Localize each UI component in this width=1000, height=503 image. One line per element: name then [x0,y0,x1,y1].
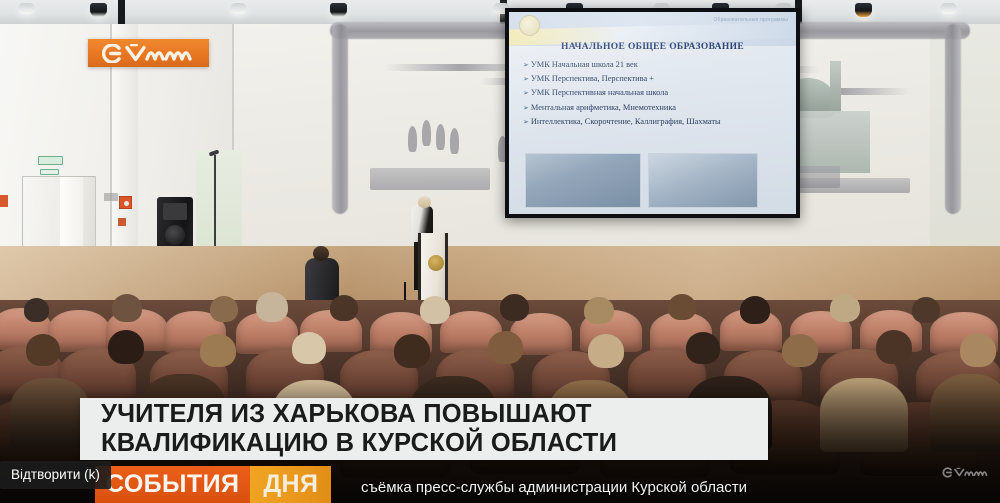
seim-logo-icon [97,44,201,63]
audience-head [830,294,860,322]
slide-bullet: УМК Начальная школа 21 век [523,58,786,72]
audience-head [112,294,142,322]
audience-head [330,295,358,321]
slide-bullet: Ментальная арифметика, Мнемотехника [523,101,786,115]
presenter-head [418,196,431,208]
audience-head [24,298,49,322]
podium-emblem-icon [428,255,444,271]
video-frame: Образовательные программы НАЧАЛЬНОЕ ОБЩЕ… [0,0,1000,503]
wall-sign [0,195,8,207]
slide-surface: Образовательные программы НАЧАЛЬНОЕ ОБЩЕ… [509,12,796,214]
audience-head [588,334,624,368]
programme-rubric: СОБЫТИЯ ДНЯ [95,466,331,503]
ceiling-spotlight [18,3,35,14]
mural-scroll-right [945,24,961,214]
audience-head [26,334,60,366]
ceiling-spotlight [90,3,107,17]
audience-head [500,294,529,321]
ceiling-gap [118,0,125,26]
mural-tree [450,128,459,154]
ceiling-spotlight [230,3,247,14]
audience-head [292,332,326,364]
audience-head [210,296,238,322]
audience-head [584,297,614,324]
slide-title: НАЧАЛЬНОЕ ОБЩЕЕ ОБРАЗОВАНИЕ [509,42,796,52]
rubric-secondary: ДНЯ [250,466,331,503]
podium [418,233,448,303]
audience-head [256,292,288,322]
slide-photo [525,153,641,208]
slide-bullet: УМК Перспективная начальная школа [523,86,786,100]
camera-operator-head [313,246,329,261]
headline-banner: УЧИТЕЛЯ ИЗ ХАРЬКОВА ПОВЫШАЮТ КВАЛИФИКАЦИ… [80,398,768,460]
rubric-text-primary: СОБЫТИЯ [106,470,239,499]
audience-head [108,330,144,364]
slide-photo-row [525,153,758,208]
wall-sign [118,218,126,226]
headline-line-2: КВАЛИФИКАЦИЮ В КУРСКОЙ ОБЛАСТИ [101,429,768,458]
projector-screen: Образовательные программы НАЧАЛЬНОЕ ОБЩЕ… [505,8,800,218]
ceiling-spotlight [940,3,957,14]
ceiling-spotlight [330,3,347,17]
audience-head [668,294,696,320]
slide-emblem-icon [519,15,540,36]
seim-watermark-icon [940,467,992,478]
audience-head [488,331,523,364]
exit-sign [38,156,63,165]
wall-notice [104,193,118,201]
rubric-primary: СОБЫТИЯ [95,466,250,503]
play-button-tooltip: Відтворити (k) [0,461,111,489]
ceiling-spotlight [855,3,872,17]
slide-bullet: УМК Перспектива, Перспектива + [523,72,786,86]
mural-tree [408,126,417,152]
slide-top-note: Образовательные программы [713,17,788,23]
audience-head [394,334,430,368]
audience-head [876,330,912,364]
channel-watermark [940,465,992,483]
audience-head [200,334,236,367]
mural-church-spire [830,61,841,113]
slide-bullet-list: УМК Начальная школа 21 век УМК Перспекти… [523,58,786,129]
audience-head [686,332,720,364]
mural-tree [422,120,431,146]
headline-line-1: УЧИТЕЛЯ ИЗ ХАРЬКОВА ПОВЫШАЮТ [101,400,768,429]
audience-head [960,333,996,367]
source-credit: съёмка пресс-службы администрации Курско… [361,479,747,496]
channel-logo [88,39,209,67]
mural-townscape [370,168,490,190]
mural-scroll-left [332,24,348,214]
slide-bullet: Интеллектика, Скорочтение, Каллиграфия, … [523,115,786,129]
rubric-text-secondary: ДНЯ [263,470,318,499]
audience-head [740,296,770,324]
exit-sign-secondary [40,169,59,175]
audience-head [782,334,818,367]
fire-alarm-icon [119,196,132,209]
mural-tree [436,124,445,150]
audience-head [912,297,940,323]
audience-head [420,296,450,324]
slide-photo [648,153,758,208]
